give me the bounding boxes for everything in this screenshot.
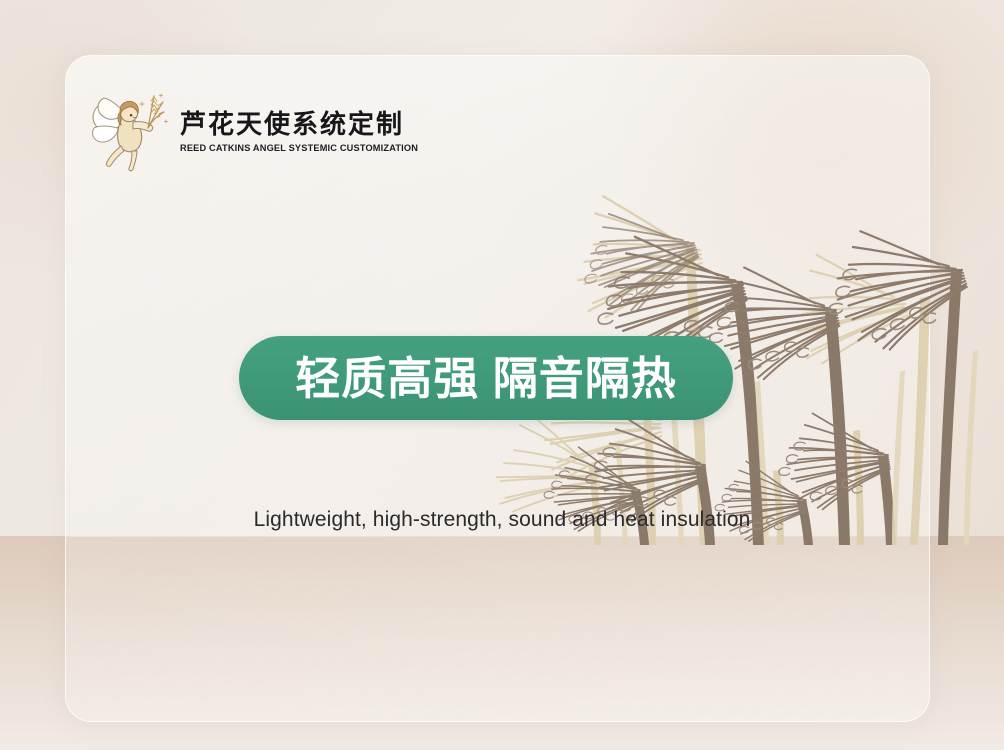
brand-logo: 芦花天使系统定制 REED CATKINS ANGEL SYSTEMIC CUS…	[88, 88, 425, 172]
brand-name-cn: 芦花天使系统定制	[180, 110, 425, 138]
headline-pill: 轻质高强 隔音隔热	[239, 336, 733, 420]
brand-name-en: REED CATKINS ANGEL SYSTEMIC CUSTOMIZATIO…	[180, 143, 418, 154]
headline-text: 轻质高强 隔音隔热	[295, 356, 677, 401]
banner-stage: 芦花天使系统定制 REED CATKINS ANGEL SYSTEMIC CUS…	[0, 0, 1004, 750]
subtitle-text: Lightweight, high-strength, sound and he…	[0, 508, 1004, 532]
brand-logo-text: 芦花天使系统定制 REED CATKINS ANGEL SYSTEMIC CUS…	[180, 106, 425, 154]
flying-angel-with-reeds-icon	[88, 88, 170, 172]
card-lower-overlay	[66, 537, 929, 721]
